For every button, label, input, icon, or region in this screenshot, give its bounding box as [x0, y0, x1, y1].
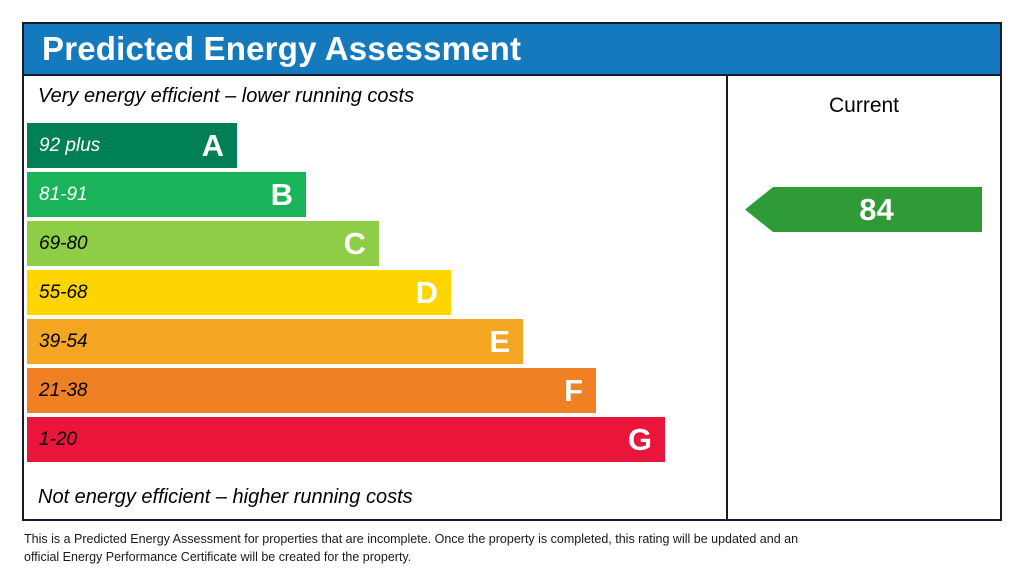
band-letter-g: G	[628, 424, 652, 455]
band-letter-b: B	[271, 179, 293, 210]
caption-inefficient: Not energy efficient – higher running co…	[24, 486, 413, 509]
epc-title-bar: Predicted Energy Assessment	[24, 24, 1000, 76]
band-row-c: 69-80C	[27, 221, 379, 266]
band-letter-e: E	[489, 326, 510, 357]
band-row-d: 55-68D	[27, 270, 451, 315]
band-range-d: 55-68	[39, 282, 88, 304]
band-range-c: 69-80	[39, 233, 88, 255]
page-title: Predicted Energy Assessment	[24, 30, 521, 68]
band-letter-d: D	[416, 277, 438, 308]
band-range-a: 92 plus	[39, 135, 100, 157]
band-row-a: 92 plusA	[27, 123, 237, 168]
band-range-b: 81-91	[39, 184, 88, 206]
band-range-g: 1-20	[39, 429, 77, 451]
column-header-current: Current	[728, 94, 1000, 118]
band-range-f: 21-38	[39, 380, 88, 402]
band-list: 92 plusA81-91B69-80C55-68D39-54E21-38F1-…	[27, 123, 726, 466]
band-row-f: 21-38F	[27, 368, 596, 413]
band-row-e: 39-54E	[27, 319, 523, 364]
band-letter-a: A	[202, 130, 224, 161]
current-rating-row: 84	[728, 187, 1000, 232]
epc-bands-column: Very energy efficient – lower running co…	[24, 76, 728, 519]
band-row-g: 1-20G	[27, 417, 665, 462]
epc-current-column: Current 84	[728, 76, 1000, 519]
band-letter-f: F	[564, 375, 583, 406]
band-row-b: 81-91B	[27, 172, 306, 217]
band-range-e: 39-54	[39, 331, 88, 353]
epc-certificate: Predicted Energy Assessment Very energy …	[22, 22, 1002, 521]
caption-efficient: Very energy efficient – lower running co…	[24, 85, 414, 108]
epc-body: Very energy efficient – lower running co…	[24, 76, 1000, 519]
footer-disclaimer: This is a Predicted Energy Assessment fo…	[24, 531, 824, 567]
current-rating-value: 84	[859, 194, 893, 225]
current-rating-arrow: 84	[745, 187, 982, 232]
band-letter-c: C	[344, 228, 366, 259]
